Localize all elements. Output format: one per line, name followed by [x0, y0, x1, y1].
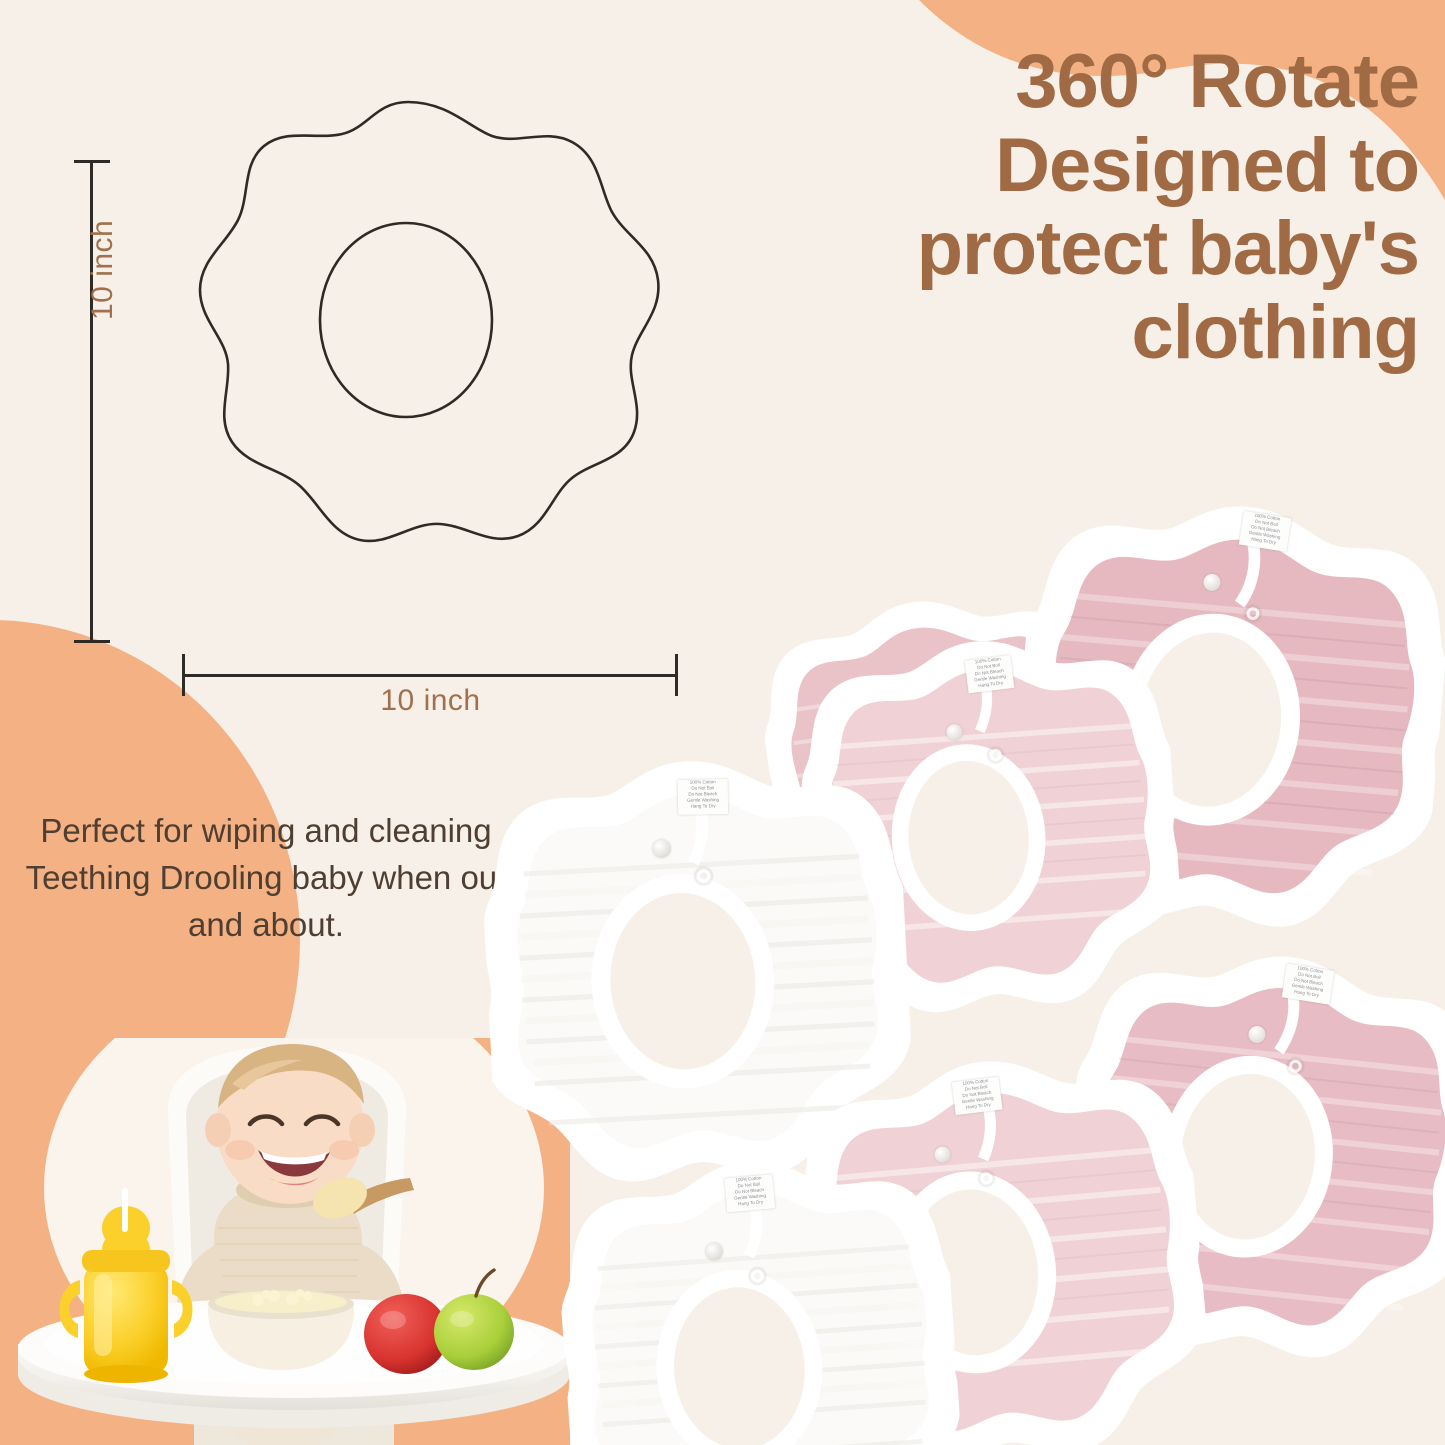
- size-diagram: 10 inch 10 inch: [28, 70, 708, 670]
- height-dimension-label: 10 inch: [86, 220, 120, 320]
- care-tag: 100% Cotton Do Not Boil Do Not Bleach Ge…: [724, 1174, 775, 1212]
- headline: 360° Rotate Designed to protect baby's c…: [789, 40, 1419, 374]
- horizontal-dimension-line: [183, 674, 678, 677]
- headline-line-1: 360° Rotate: [789, 40, 1419, 124]
- headline-line-2: Designed to: [789, 124, 1419, 208]
- baby-highchair-photo: [18, 1038, 570, 1445]
- vertical-dimension-cap-top: [74, 160, 110, 163]
- care-tag: 100% Cotton Do Not Boil Do Not Bleach Ge…: [1239, 511, 1292, 552]
- care-tag: 100% Cotton Do Not Boil Do Not Bleach Ge…: [678, 779, 729, 815]
- bib-outline-shape: [148, 80, 668, 590]
- width-dimension-label: 10 inch: [183, 684, 678, 718]
- headline-line-4: clothing: [789, 291, 1419, 375]
- bib-white-lower-left: 100% Cotton Do Not Boil Do Not Bleach Ge…: [552, 1147, 968, 1445]
- vertical-dimension-cap-bottom: [74, 640, 110, 643]
- care-tag: 100% Cotton Do Not Boil Do Not Bleach Ge…: [952, 1077, 1003, 1115]
- care-tag: 100% Cotton Do Not Boil Do Not Bleach Ge…: [965, 655, 1015, 693]
- body-copy: Perfect for wiping and cleaning Teething…: [18, 808, 514, 949]
- headline-line-3: protect baby's: [789, 207, 1419, 291]
- care-tag: 100% Cotton Do Not Boil Do Not Bleach Ge…: [1282, 963, 1335, 1004]
- product-infographic: 10 inch 10 inch 360° Rotate Designed to …: [0, 0, 1445, 1445]
